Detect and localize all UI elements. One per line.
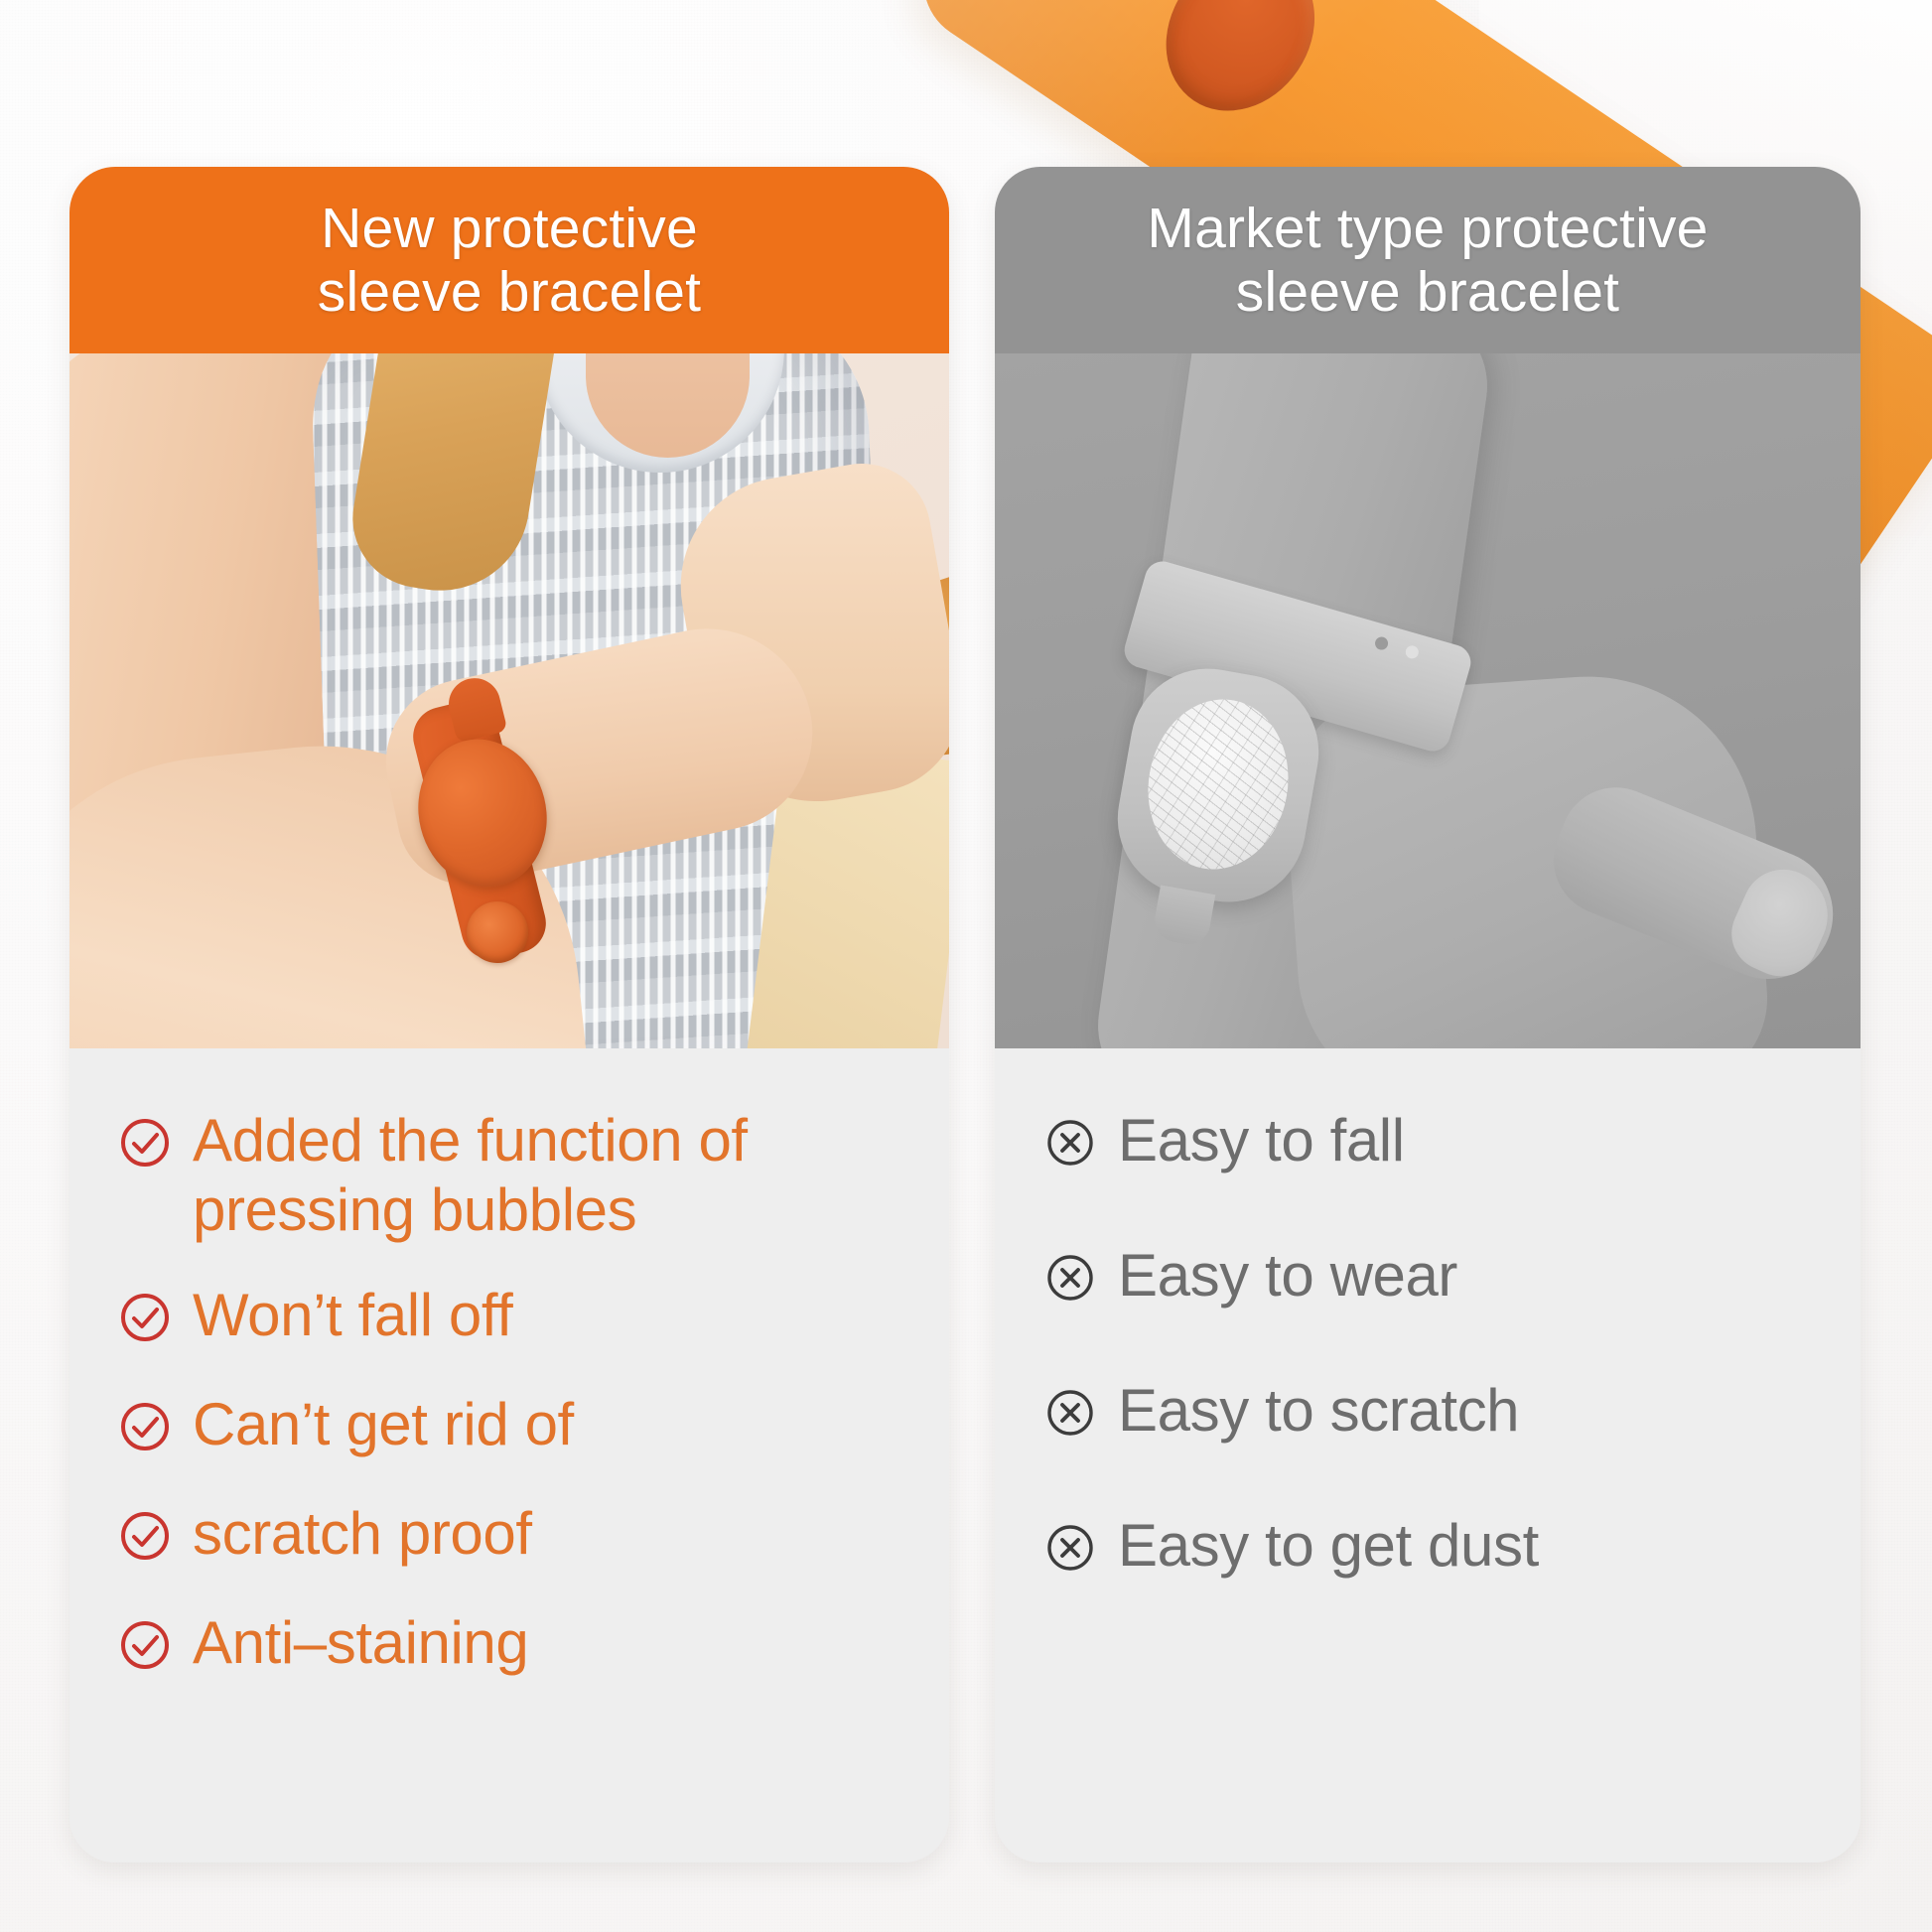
- list-item: scratch proof: [69, 1499, 949, 1573]
- header-line-1: New protective: [321, 197, 698, 260]
- feature-list-new: Added the function of pressing bubbles W…: [69, 1048, 949, 1863]
- x-circle-icon: [1040, 1376, 1100, 1449]
- list-item-label: Added the function of pressing bubbles: [193, 1106, 949, 1245]
- header-line-1: Market type protective: [1147, 197, 1708, 260]
- x-circle-icon: [1040, 1241, 1100, 1314]
- infographic-page: New protective sleeve bracelet: [0, 0, 1932, 1932]
- list-item: Won’t fall off: [69, 1281, 949, 1354]
- list-item: Easy to wear: [995, 1241, 1861, 1314]
- check-circle-icon: [115, 1281, 175, 1354]
- card-header-new: New protective sleeve bracelet: [69, 167, 949, 353]
- product-photo-new: [69, 353, 949, 1048]
- list-item-label: Won’t fall off: [193, 1281, 512, 1350]
- x-circle-icon: [1040, 1511, 1100, 1585]
- list-item: Can’t get rid of: [69, 1390, 949, 1463]
- check-circle-icon: [115, 1499, 175, 1573]
- x-circle-icon: [1040, 1106, 1100, 1179]
- list-item-label: Easy to fall: [1118, 1106, 1405, 1175]
- check-circle-icon: [115, 1608, 175, 1682]
- card-header-new-title: New protective sleeve bracelet: [318, 197, 701, 325]
- card-header-market: Market type protective sleeve bracelet: [995, 167, 1861, 353]
- feature-list-market: Easy to fall Easy to wear: [995, 1048, 1861, 1863]
- list-item: Easy to fall: [995, 1106, 1861, 1179]
- list-item-label: Easy to scratch: [1118, 1376, 1519, 1446]
- card-header-market-title: Market type protective sleeve bracelet: [1147, 197, 1708, 325]
- comparison-card-market: Market type protective sleeve bracelet: [995, 167, 1861, 1863]
- check-circle-icon: [115, 1390, 175, 1463]
- list-item-label: Can’t get rid of: [193, 1390, 574, 1459]
- list-item-label: Anti–staining: [193, 1608, 528, 1678]
- list-item: Added the function of pressing bubbles: [69, 1106, 949, 1245]
- list-item-label: scratch proof: [193, 1499, 532, 1569]
- product-photo-market: [995, 353, 1861, 1048]
- header-line-2: sleeve bracelet: [1236, 260, 1619, 324]
- list-item: Easy to get dust: [995, 1511, 1861, 1585]
- list-item-label: Easy to get dust: [1118, 1511, 1539, 1581]
- list-item: Easy to scratch: [995, 1376, 1861, 1449]
- comparison-card-new: New protective sleeve bracelet: [69, 167, 949, 1863]
- list-item: Anti–staining: [69, 1608, 949, 1682]
- list-item-label: Easy to wear: [1118, 1241, 1457, 1311]
- check-circle-icon: [115, 1106, 175, 1179]
- header-line-2: sleeve bracelet: [318, 260, 701, 324]
